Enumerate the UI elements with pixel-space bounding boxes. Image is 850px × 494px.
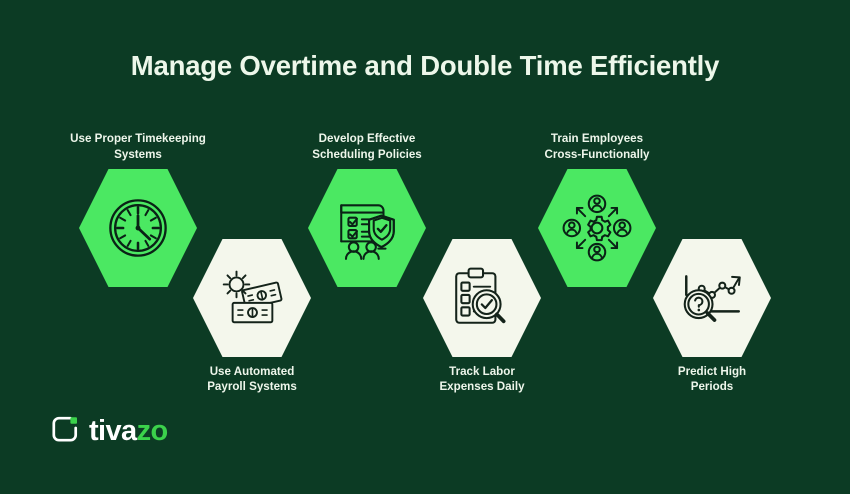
node-label-scheduling: Develop Effective Scheduling Policies: [246, 131, 488, 162]
brand-wordmark: tivazo: [89, 417, 168, 446]
node-label-labor-expenses: Track Labor Expenses Daily: [361, 364, 603, 395]
node-label-cross-training: Train Employees Cross-Functionally: [476, 131, 718, 162]
brand-logo[interactable]: tivazo: [50, 414, 168, 449]
checklist-shield-people-icon: [333, 195, 401, 261]
hexagon-labor-expenses: [423, 239, 541, 357]
node-label-timekeeping: Use Proper Timekeeping Systems: [17, 131, 259, 162]
hexagon-payroll: [193, 239, 311, 357]
brand-word-accent: zo: [137, 415, 168, 447]
tivazo-square-mark-icon: [50, 414, 80, 449]
hexagon-scheduling: [308, 169, 426, 287]
node-payroll: Use Automated Payroll Systems: [193, 239, 311, 357]
node-timekeeping: Use Proper Timekeeping Systems: [79, 169, 197, 287]
chart-magnifier-question-icon: [677, 266, 747, 330]
node-label-predict-peaks: Predict High Periods: [591, 364, 833, 395]
infographic-canvas: Manage Overtime and Double Time Efficien…: [0, 0, 850, 494]
node-labor-expenses: Track Labor Expenses Daily: [423, 239, 541, 357]
hexagon-predict-peaks: [653, 239, 771, 357]
node-cross-training: Train Employees Cross-Functionally: [538, 169, 656, 287]
node-predict-peaks: Predict High Periods: [653, 239, 771, 357]
clipboard-magnifier-check-icon: [450, 265, 514, 331]
hexagon-cross-training: [538, 169, 656, 287]
node-scheduling: Develop Effective Scheduling Policies: [308, 169, 426, 287]
node-label-payroll: Use Automated Payroll Systems: [131, 364, 373, 395]
clock-icon: [104, 194, 172, 262]
page-title: Manage Overtime and Double Time Efficien…: [0, 50, 850, 82]
gear-people-network-icon: [561, 193, 633, 263]
hexagon-timekeeping: [79, 169, 197, 287]
gear-money-icon: [218, 267, 286, 329]
brand-word-primary: tiva: [89, 415, 137, 447]
